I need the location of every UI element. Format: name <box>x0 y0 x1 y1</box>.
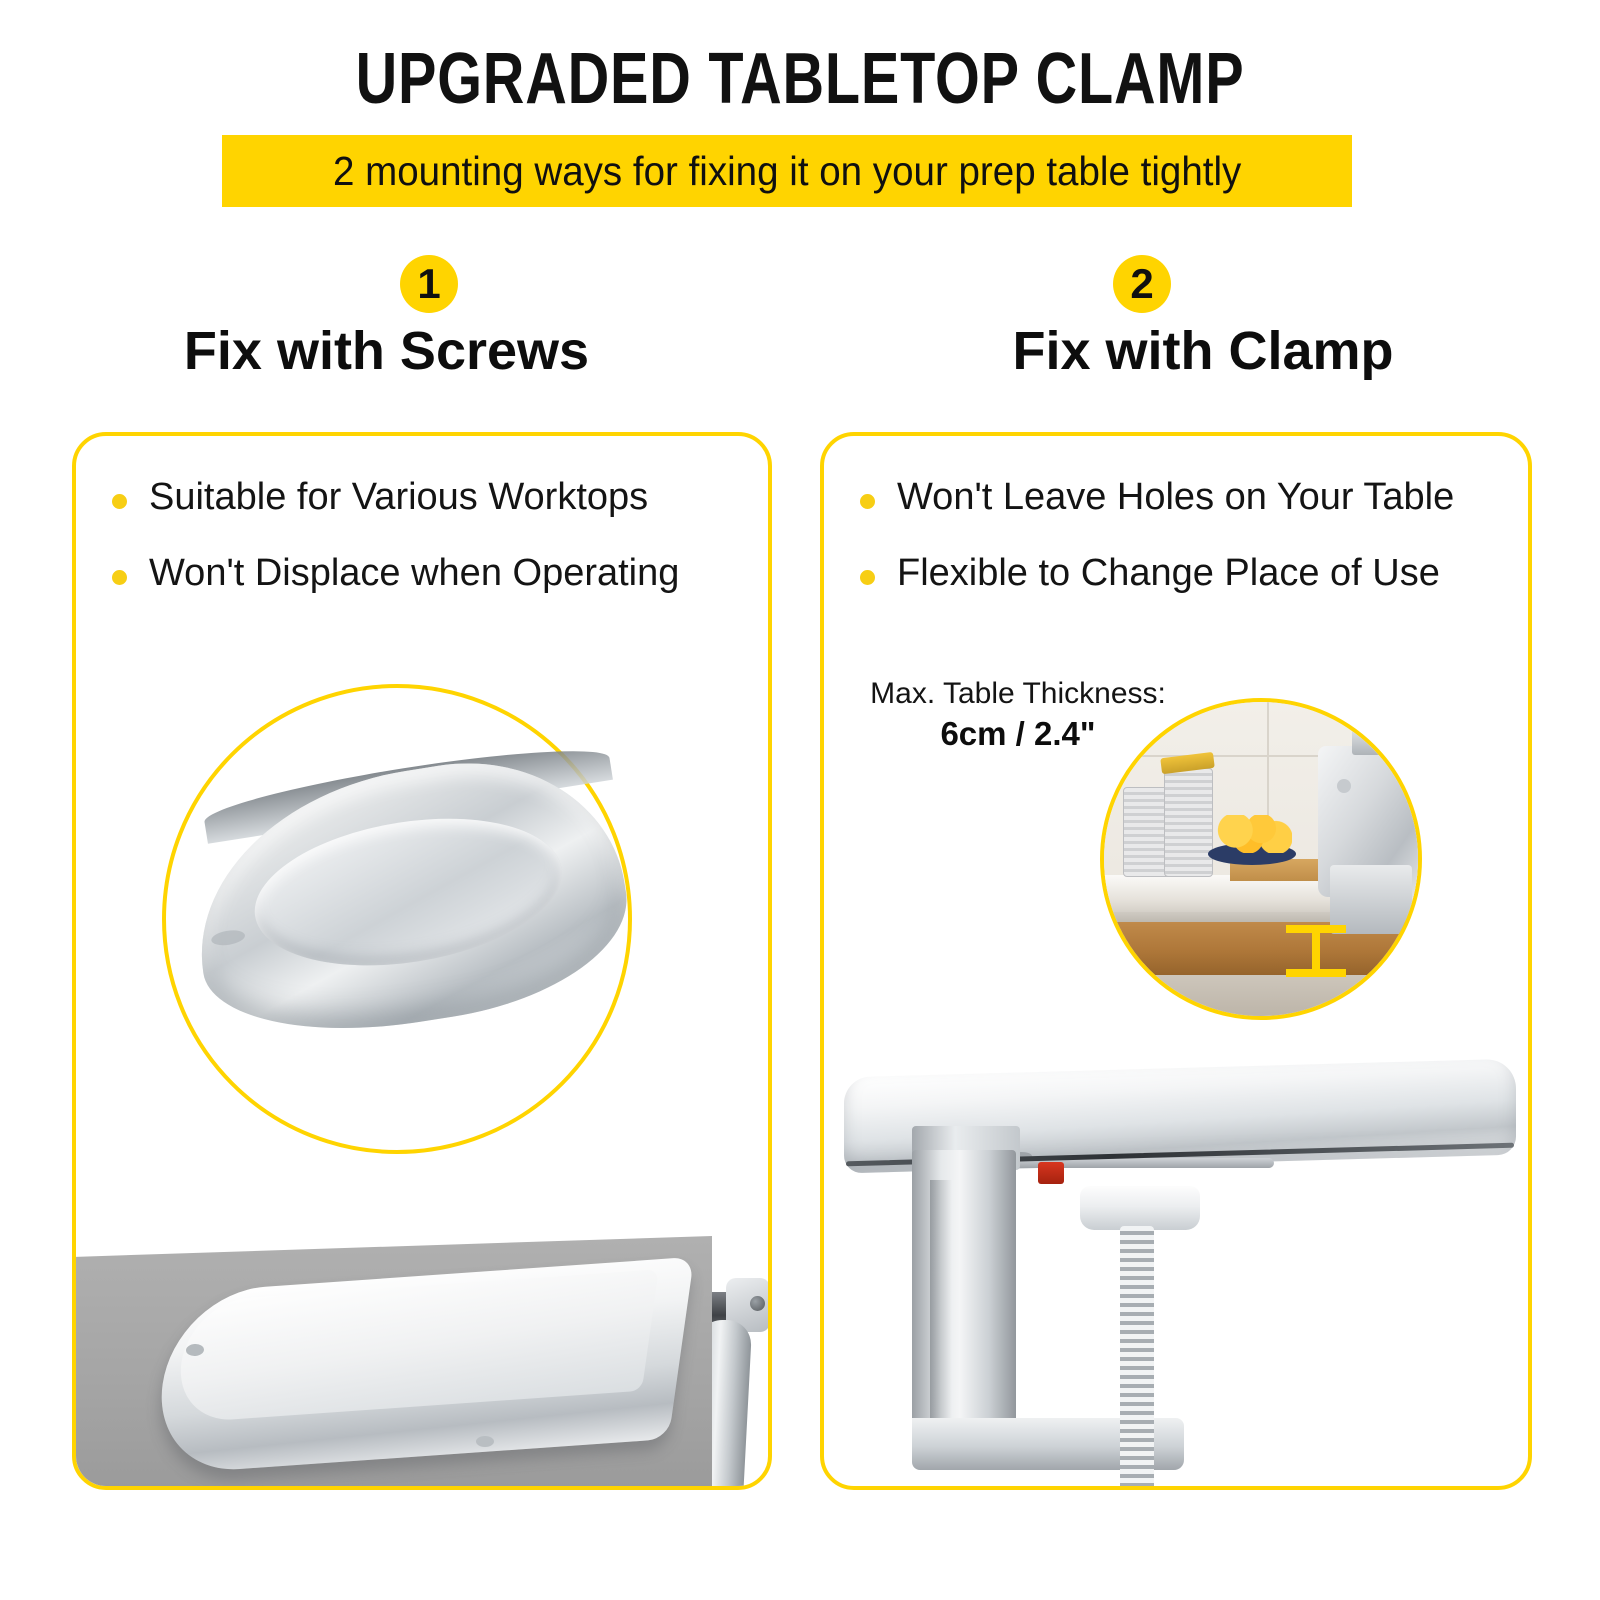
panel-fix-with-clamp: Won't Leave Holes on Your Table Flexible… <box>820 432 1532 1490</box>
peach-halves-image <box>1211 815 1293 853</box>
thickness-dimension-marker-icon <box>1286 925 1346 977</box>
max-thickness-note: Max. Table Thickness: 6cm / 2.4" <box>838 674 1198 756</box>
bracket-inner-shadow <box>930 1180 952 1420</box>
max-thickness-label: Max. Table Thickness: <box>838 674 1198 713</box>
bullet-dot-icon <box>112 570 127 585</box>
threaded-screw-rod-image <box>1120 1226 1154 1490</box>
bullet-dot-icon <box>860 494 875 509</box>
red-indicator-icon <box>1038 1162 1064 1184</box>
step-badge-2: 2 <box>1113 255 1171 313</box>
bullet-text: Won't Displace when Operating <box>149 550 679 598</box>
bullet-text: Won't Leave Holes on Your Table <box>897 474 1454 522</box>
bullet-dot-icon <box>112 494 127 509</box>
screw-hole-icon <box>476 1436 494 1447</box>
bullet-dot-icon <box>860 570 875 585</box>
list-item: Won't Leave Holes on Your Table <box>860 474 1454 522</box>
page-title: UPGRADED TABLETOP CLAMP <box>160 38 1440 120</box>
panel-fix-with-screws: Suitable for Various Worktops Won't Disp… <box>72 432 772 1490</box>
list-item: Won't Displace when Operating <box>112 550 679 598</box>
floor-area <box>1104 975 1418 1016</box>
clamp-vertical-bracket-image <box>912 1150 1016 1440</box>
section-heading-2: Fix with Clamp <box>823 320 1583 382</box>
step-badge-1: 1 <box>400 255 458 313</box>
tin-can-image <box>1164 768 1213 877</box>
bullet-list-left: Suitable for Various Worktops Won't Disp… <box>112 474 679 625</box>
subtitle-banner: 2 mounting ways for fixing it on your pr… <box>222 135 1352 207</box>
clamp-screw-knob-image <box>1080 1186 1200 1230</box>
max-thickness-value: 6cm / 2.4" <box>838 713 1198 756</box>
list-item: Flexible to Change Place of Use <box>860 550 1454 598</box>
bullet-list-right: Won't Leave Holes on Your Table Flexible… <box>860 474 1454 625</box>
infographic-page: UPGRADED TABLETOP CLAMP 2 mounting ways … <box>0 0 1600 1600</box>
list-item: Suitable for Various Worktops <box>112 474 679 522</box>
can-opener-top-image <box>1352 727 1399 755</box>
section-heading-1: Fix with Screws <box>0 320 773 382</box>
bullet-text: Suitable for Various Worktops <box>149 474 648 522</box>
bullet-text: Flexible to Change Place of Use <box>897 550 1440 598</box>
subtitle-text: 2 mounting ways for fixing it on your pr… <box>333 148 1241 195</box>
